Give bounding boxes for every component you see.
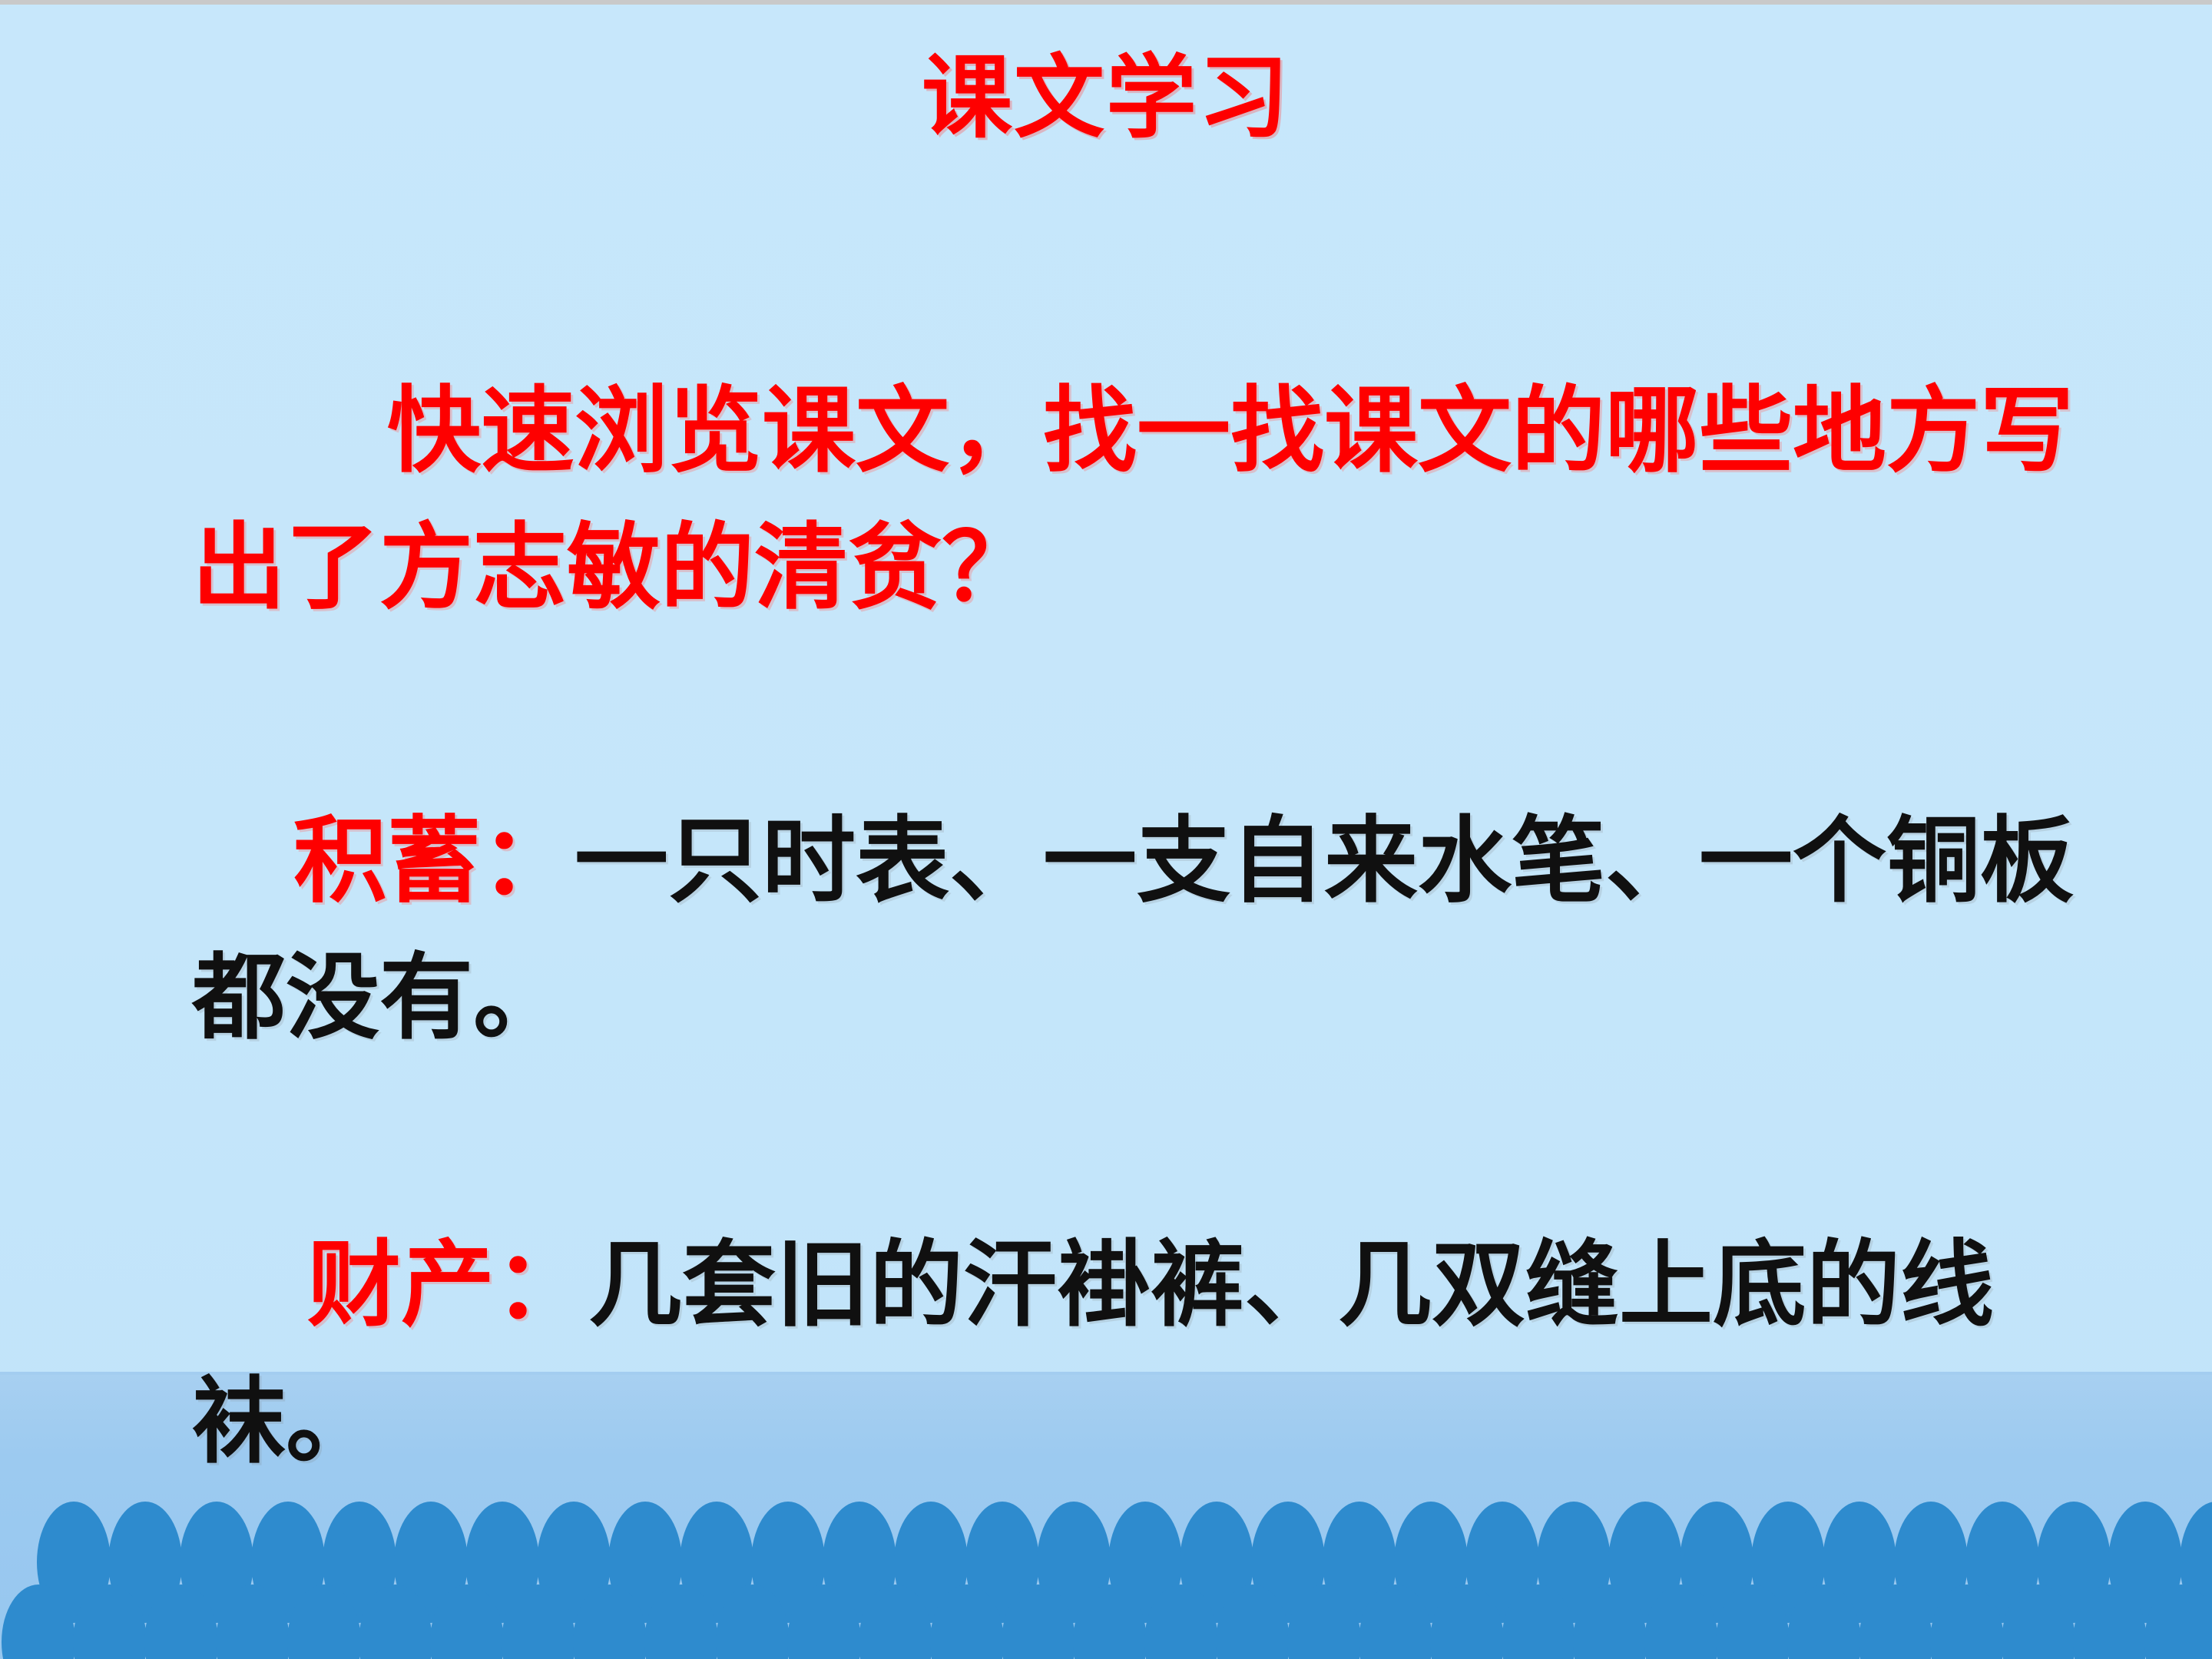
page-title: 课文学习 xyxy=(0,45,2212,151)
slide-canvas: 课文学习 快速浏览课文，找一找课文的哪些地方写出了方志敏的清贫？ 积蓄：一只时表… xyxy=(0,0,2212,1659)
decor-bubble xyxy=(2144,1584,2212,1659)
decor-bubble xyxy=(1644,1584,1718,1659)
top-edge-strip xyxy=(0,0,2212,5)
decor-bubble xyxy=(1073,1584,1147,1659)
decor-bubble xyxy=(1002,1584,1075,1659)
decor-bubble xyxy=(2,1584,75,1659)
bubble-row-front xyxy=(0,1584,2212,1659)
decor-bubble xyxy=(1359,1584,1432,1659)
decor-bubble xyxy=(1216,1584,1290,1659)
property-label: 财产： xyxy=(307,1230,588,1339)
savings-label: 积蓄： xyxy=(293,806,575,916)
savings-paragraph: 积蓄：一只时表、一支自来水笔、一个铜板都没有。 xyxy=(192,793,2158,1066)
decor-bubble xyxy=(644,1584,718,1659)
decor-bubble xyxy=(1573,1584,1647,1659)
decor-bubble xyxy=(73,1584,147,1659)
question-paragraph: 快速浏览课文，找一找课文的哪些地方写出了方志敏的清贫？ xyxy=(192,363,2158,636)
decor-bubble xyxy=(2002,1584,2075,1659)
property-paragraph: 财产：几套旧的汗褂裤、几双缝上底的线袜。 xyxy=(192,1217,2158,1490)
decor-bubble xyxy=(573,1584,647,1659)
decor-bubble xyxy=(430,1584,504,1659)
decor-bubble xyxy=(144,1584,218,1659)
decor-bubble xyxy=(1716,1584,1790,1659)
decor-bubble xyxy=(216,1584,290,1659)
decor-bubble xyxy=(1787,1584,1861,1659)
decor-bubble xyxy=(1287,1584,1361,1659)
decor-bubble xyxy=(1859,1584,1932,1659)
decor-bubble xyxy=(1144,1584,1218,1659)
decor-bubble xyxy=(1430,1584,1504,1659)
decor-bubble xyxy=(1930,1584,2004,1659)
decor-bubble xyxy=(1502,1584,1575,1659)
decor-bubble xyxy=(287,1584,361,1659)
decor-bubble xyxy=(502,1584,575,1659)
decor-bubble xyxy=(2073,1584,2147,1659)
decor-bubble xyxy=(359,1584,432,1659)
decor-bubble xyxy=(716,1584,790,1659)
decor-bubble xyxy=(787,1584,861,1659)
decor-bubble xyxy=(930,1584,1004,1659)
decor-bubble xyxy=(859,1584,932,1659)
